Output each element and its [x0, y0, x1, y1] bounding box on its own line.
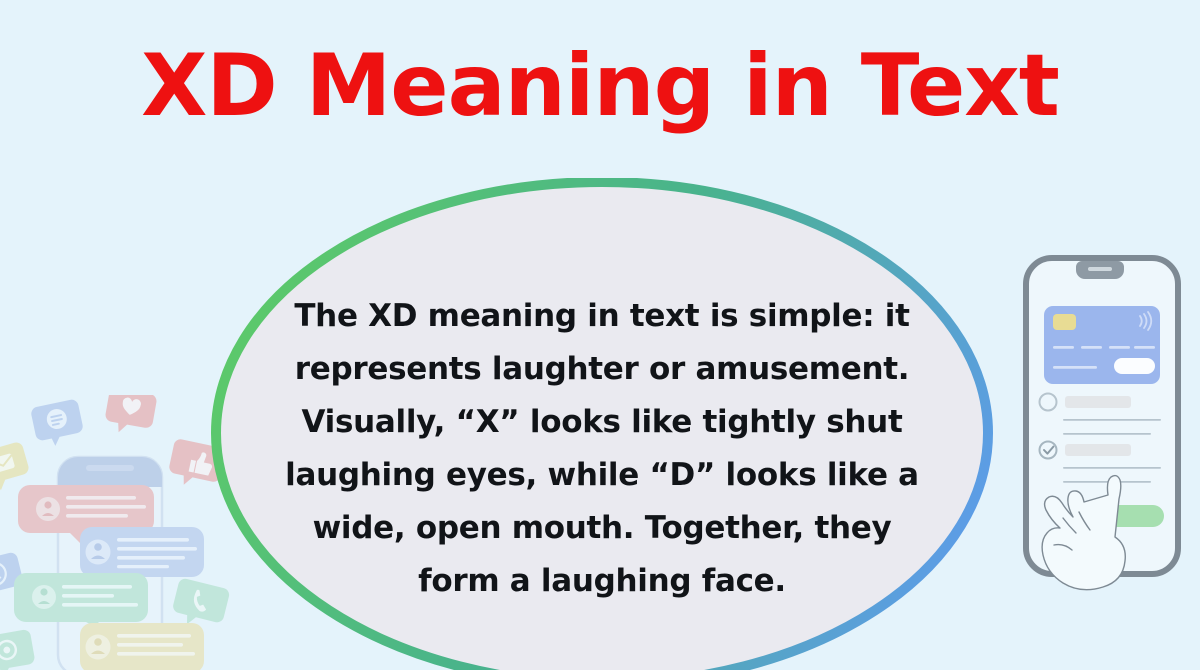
callout-line-2: represents laughter or amusement. — [262, 343, 942, 396]
callout-line-1: The XD meaning in text is simple: it — [262, 290, 942, 343]
right-illustration-payment-phone — [1000, 250, 1200, 670]
callout-line-3: Visually, “X” looks like tightly shut — [262, 396, 942, 449]
poster-canvas: XD Meaning in Text — [0, 0, 1200, 670]
left-illustration-chat-phone — [0, 395, 232, 670]
reaction-badge-chat — [30, 398, 86, 449]
callout-line-6: form a laughing face. — [262, 555, 942, 608]
payment-phone-svg — [1000, 250, 1200, 670]
speaker-slot — [1088, 267, 1112, 271]
callout-line-5: wide, open mouth. Together, they — [262, 502, 942, 555]
reaction-badge-gear — [0, 629, 37, 670]
user-avatar-icon — [36, 497, 60, 521]
card-chip-icon — [1053, 314, 1076, 330]
credit-card — [1044, 306, 1160, 384]
card-action-pill — [1114, 358, 1155, 374]
chat-phone-svg — [0, 395, 232, 670]
callout-line-4: laughing eyes, while “D” looks like a — [262, 449, 942, 502]
chat-bubble-4 — [80, 623, 204, 670]
callout-body-text: The XD meaning in text is simple: it rep… — [262, 290, 942, 608]
page-title: XD Meaning in Text — [0, 38, 1200, 134]
reaction-badge-heart — [103, 395, 158, 438]
